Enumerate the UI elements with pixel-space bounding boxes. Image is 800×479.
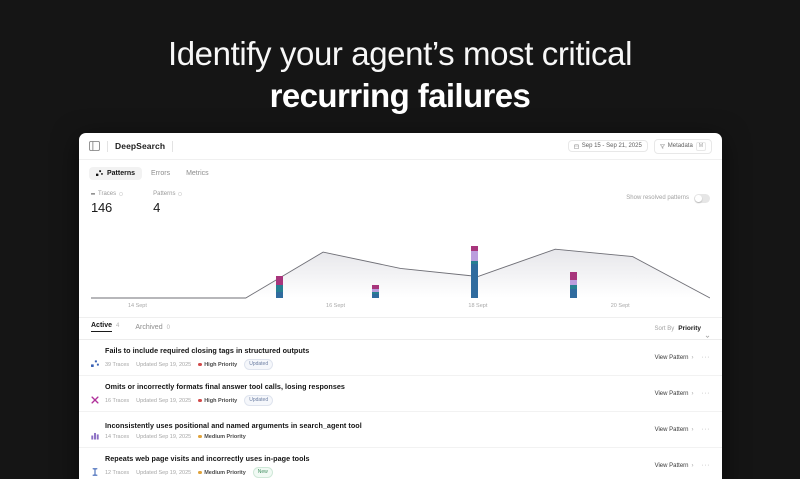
info-icon-2[interactable] (178, 192, 182, 196)
tab-errors[interactable]: Errors (144, 167, 177, 180)
stat-traces: Traces 146 (91, 191, 123, 215)
show-resolved-label: Show resolved patterns (626, 195, 689, 201)
tab-errors-label: Errors (151, 170, 170, 177)
pattern-traces-count: 12 Traces (105, 470, 129, 476)
tab-patterns[interactable]: Patterns (89, 167, 142, 180)
titlebar-actions: Sep 15 - Sep 21, 2025 Metadata M (568, 139, 712, 154)
pattern-row-actions: View Pattern›··· (655, 391, 710, 397)
titlebar-divider-2 (172, 141, 173, 152)
sort-by-value: Priority (678, 325, 701, 332)
chevron-right-icon: › (692, 463, 694, 469)
filter-icon (660, 144, 665, 149)
pattern-title: Inconsistently uses positional and named… (105, 421, 649, 430)
stat-traces-label-wrap: Traces (91, 191, 123, 197)
chevron-right-icon: › (692, 391, 694, 397)
hero-line-2: recurring failures (0, 75, 800, 117)
show-resolved-control[interactable]: Show resolved patterns (626, 191, 710, 203)
chevron-right-icon: › (692, 355, 694, 361)
list-tab-active-label: Active (91, 322, 112, 332)
sidebar-panel-icon[interactable] (89, 141, 100, 151)
chart-bar-segment (276, 276, 283, 285)
pattern-meta: 16 TracesUpdated Sep 19, 2025High Priori… (105, 395, 649, 406)
chart-bar[interactable] (471, 246, 478, 299)
status-badge: New (253, 467, 273, 478)
priority-indicator: High Priority (198, 398, 237, 404)
priority-indicator: Medium Priority (198, 434, 246, 440)
priority-label: High Priority (204, 362, 237, 368)
pattern-traces-count: 14 Traces (105, 434, 129, 440)
pattern-title: Repeats web page visits and incorrectly … (105, 454, 649, 463)
chart-bar-segment (471, 264, 478, 298)
hero-heading: Identify your agent’s most critical recu… (0, 0, 800, 117)
view-pattern-label: View Pattern (655, 463, 689, 469)
chart-bar[interactable] (276, 276, 283, 298)
sort-by-label: Sort By (655, 326, 675, 332)
overflow-menu-icon[interactable]: ··· (702, 427, 711, 433)
chart-bar-segment (276, 285, 283, 292)
pattern-meta: 12 TracesUpdated Sep 19, 2025Medium Prio… (105, 467, 649, 478)
pattern-updated-date: Updated Sep 19, 2025 (136, 434, 191, 440)
overflow-menu-icon[interactable]: ··· (702, 355, 711, 361)
pattern-node-icon (91, 355, 99, 363)
priority-dot-icon (198, 363, 202, 367)
priority-dot-icon (198, 435, 202, 439)
pattern-title: Fails to include required closing tags i… (105, 346, 649, 355)
overflow-menu-icon[interactable]: ··· (702, 391, 711, 397)
primary-tabs: Patterns Errors Metrics (79, 160, 722, 186)
titlebar-divider (107, 141, 108, 152)
text-cursor-icon (91, 463, 99, 471)
hero-line-1: Identify your agent’s most critical (0, 33, 800, 75)
patterns-icon (96, 170, 103, 177)
list-tab-archived-count: 0 (167, 325, 170, 331)
tab-metrics-label: Metrics (186, 170, 209, 177)
priority-dot-icon (198, 399, 202, 403)
chart-bar-segment (471, 251, 478, 261)
view-pattern-label: View Pattern (655, 427, 689, 433)
priority-dot-icon (198, 471, 202, 475)
metadata-filter[interactable]: Metadata M (654, 139, 712, 154)
app-window: DeepSearch Sep 15 - Sep 21, 2025 (79, 133, 722, 479)
stat-traces-value: 146 (91, 200, 123, 215)
pattern-row-actions: View Pattern›··· (655, 355, 710, 361)
status-badge: Updated (244, 359, 273, 370)
stats-row: Traces 146 Patterns 4 Show resolved patt… (79, 186, 722, 215)
calendar-icon (574, 144, 579, 149)
chart-bar[interactable] (372, 285, 379, 298)
view-pattern-button[interactable]: View Pattern› (655, 463, 694, 469)
stat-patterns: Patterns 4 (153, 191, 182, 215)
view-pattern-label: View Pattern (655, 391, 689, 397)
stat-patterns-value: 4 (153, 200, 182, 215)
toggle-knob (695, 195, 702, 202)
pattern-meta: 14 TracesUpdated Sep 19, 2025Medium Prio… (105, 434, 649, 440)
view-pattern-button[interactable]: View Pattern› (655, 355, 694, 361)
pattern-meta: 39 TracesUpdated Sep 19, 2025High Priori… (105, 359, 649, 370)
pattern-row[interactable]: Repeats web page visits and incorrectly … (79, 447, 722, 479)
chart-x-tick: 18 Sept (468, 303, 487, 309)
priority-label: Medium Priority (204, 470, 246, 476)
status-badge: Updated (244, 395, 273, 406)
window-titlebar: DeepSearch Sep 15 - Sep 21, 2025 (79, 133, 722, 160)
chart-bars-layer (91, 215, 710, 303)
close-x-icon (91, 391, 99, 399)
priority-label: High Priority (204, 398, 237, 404)
pattern-row[interactable]: Fails to include required closing tags i… (79, 339, 722, 375)
chart-bar-segment (570, 289, 577, 298)
chart-x-tick: 20 Sept (611, 303, 630, 309)
pattern-row[interactable]: Inconsistently uses positional and named… (79, 411, 722, 447)
pattern-row-actions: View Pattern›··· (655, 463, 710, 469)
date-range-picker[interactable]: Sep 15 - Sep 21, 2025 (568, 140, 648, 152)
pattern-row-main: Inconsistently uses positional and named… (105, 421, 649, 440)
pattern-updated-date: Updated Sep 19, 2025 (136, 470, 191, 476)
priority-indicator: Medium Priority (198, 470, 246, 476)
pattern-list-header: Active 4 Archived 0 Sort By Priority (79, 317, 722, 339)
view-pattern-button[interactable]: View Pattern› (655, 427, 694, 433)
bar-chart-icon (91, 427, 99, 435)
pattern-row-main: Repeats web page visits and incorrectly … (105, 454, 649, 478)
pattern-title: Omits or incorrectly formats final answe… (105, 382, 649, 391)
pattern-updated-date: Updated Sep 19, 2025 (136, 362, 191, 368)
page-root: Identify your agent’s most critical recu… (0, 0, 800, 479)
chart-x-tick: 14 Sept (128, 303, 147, 309)
stat-patterns-label-wrap: Patterns (153, 191, 182, 197)
tab-patterns-label: Patterns (107, 170, 135, 177)
chevron-right-icon: › (692, 427, 694, 433)
view-pattern-button[interactable]: View Pattern› (655, 391, 694, 397)
list-tab-archived[interactable]: Archived 0 (135, 324, 170, 334)
chart-x-tick: 16 Sept (326, 303, 345, 309)
list-tab-active[interactable]: Active 4 (91, 322, 119, 335)
info-icon[interactable] (119, 192, 123, 196)
stat-traces-label: Traces (98, 191, 116, 197)
pattern-row-main: Omits or incorrectly formats final answe… (105, 382, 649, 406)
tab-metrics[interactable]: Metrics (179, 167, 216, 180)
pattern-row-main: Fails to include required closing tags i… (105, 346, 649, 370)
chart-bar[interactable] (570, 272, 577, 298)
list-tab-active-count: 4 (116, 323, 119, 329)
pattern-list: Fails to include required closing tags i… (79, 339, 722, 479)
chevron-down-icon (705, 326, 710, 331)
metadata-shortcut: M (696, 142, 706, 151)
traces-chart: 14 Sept16 Sept18 Sept20 Sept (91, 215, 710, 317)
show-resolved-toggle[interactable] (694, 194, 710, 203)
overflow-menu-icon[interactable]: ··· (702, 463, 711, 469)
pattern-traces-count: 16 Traces (105, 398, 129, 404)
metadata-label: Metadata (668, 143, 693, 149)
priority-label: Medium Priority (204, 434, 246, 440)
pattern-updated-date: Updated Sep 19, 2025 (136, 398, 191, 404)
list-tab-archived-label: Archived (135, 324, 162, 331)
date-range-label: Sep 15 - Sep 21, 2025 (582, 143, 642, 149)
chart-bar-segment (570, 272, 577, 280)
pattern-row-actions: View Pattern›··· (655, 427, 710, 433)
view-pattern-label: View Pattern (655, 355, 689, 361)
stat-patterns-label: Patterns (153, 191, 175, 197)
pattern-traces-count: 39 Traces (105, 362, 129, 368)
traces-icon (91, 192, 95, 196)
pattern-row[interactable]: Omits or incorrectly formats final answe… (79, 375, 722, 411)
app-title: DeepSearch (115, 141, 165, 151)
chart-bar-segment (372, 294, 379, 298)
sort-control[interactable]: Sort By Priority (655, 325, 710, 332)
chart-bar-segment (276, 292, 283, 298)
chart-x-axis: 14 Sept16 Sept18 Sept20 Sept (91, 303, 710, 317)
priority-indicator: High Priority (198, 362, 237, 368)
